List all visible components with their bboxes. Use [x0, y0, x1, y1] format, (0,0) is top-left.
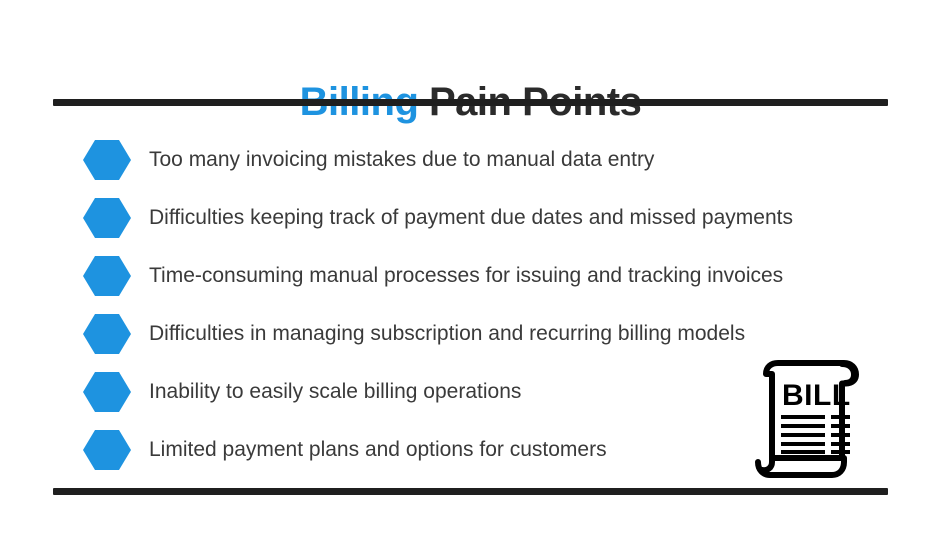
list-item-label: Time-consuming manual processes for issu…: [149, 263, 783, 289]
list-item: Time-consuming manual processes for issu…: [83, 247, 883, 305]
hexagon-bullet-icon: [83, 314, 131, 354]
scroll-bottom-curl: [758, 458, 844, 475]
top-divider: [53, 99, 888, 106]
hexagon-bullet-icon: [83, 430, 131, 470]
list-item-label: Limited payment plans and options for cu…: [149, 437, 607, 463]
bill-scroll-icon: BILL: [748, 358, 868, 480]
hexagon-bullet-icon: [83, 198, 131, 238]
hexagon-bullet-icon: [83, 140, 131, 180]
bill-heading-text: BILL: [782, 379, 851, 412]
hexagon-bullet-icon: [83, 372, 131, 412]
bottom-divider: [53, 488, 888, 495]
list-item-label: Difficulties keeping track of payment du…: [149, 205, 793, 231]
list-item: Difficulties keeping track of payment du…: [83, 189, 883, 247]
list-item: Difficulties in managing subscription an…: [83, 305, 883, 363]
list-item: Too many invoicing mistakes due to manua…: [83, 131, 883, 189]
slide-canvas: Billing Pain Points Too many invoicing m…: [0, 0, 941, 549]
list-item-label: Too many invoicing mistakes due to manua…: [149, 147, 654, 173]
list-item-label: Inability to easily scale billing operat…: [149, 379, 521, 405]
hexagon-bullet-icon: [83, 256, 131, 296]
list-item-label: Difficulties in managing subscription an…: [149, 321, 745, 347]
